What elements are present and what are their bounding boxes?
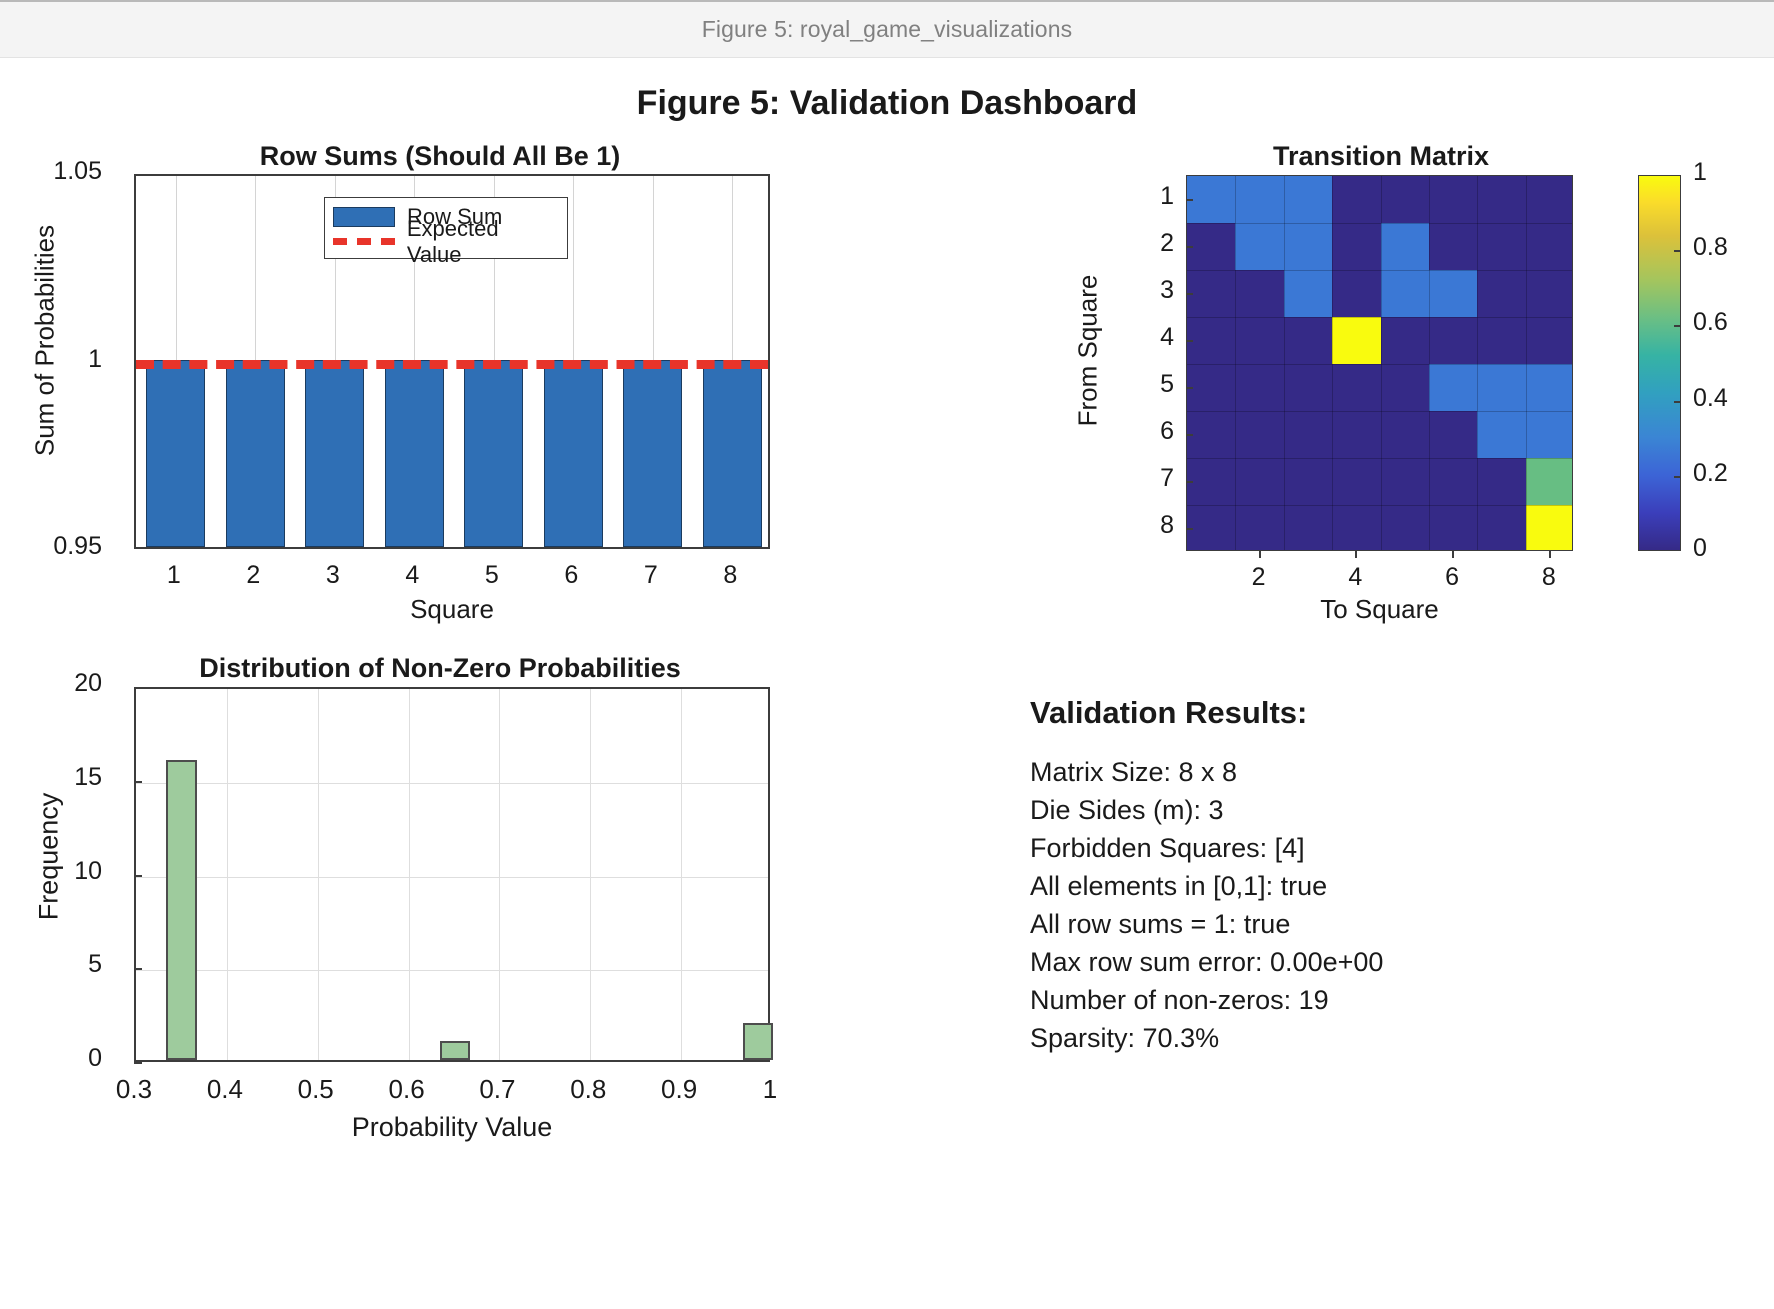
transition-matrix-x-tick-mark xyxy=(1355,551,1357,558)
transition-matrix-y-tick: 6 xyxy=(1094,417,1174,446)
heatmap-cell xyxy=(1526,458,1573,506)
histogram-bar xyxy=(166,760,197,1060)
colorbar-tick: 0 xyxy=(1693,534,1774,563)
histogram-y-tick-mark xyxy=(134,968,142,970)
heatmap-cell xyxy=(1477,364,1526,412)
figure-title: Figure 5: Validation Dashboard xyxy=(0,84,1774,123)
transition-matrix-title: Transition Matrix xyxy=(1186,141,1576,172)
heatmap-cell xyxy=(1526,505,1573,551)
histogram-gridline-vertical xyxy=(227,689,228,1060)
heatmap-gridline-vertical xyxy=(1332,176,1333,550)
transition-matrix-panel: Transition Matrix From Square To Square … xyxy=(960,130,1774,650)
heatmap-gridline-vertical xyxy=(1235,176,1236,550)
heatmap-cell xyxy=(1526,317,1573,365)
heatmap-cell xyxy=(1332,411,1381,459)
legend-label-expected-value: Expected Value xyxy=(407,216,559,268)
heatmap-cell xyxy=(1235,364,1284,412)
row-sums-x-tick: 4 xyxy=(382,561,442,590)
transition-matrix-y-tick-mark xyxy=(1186,199,1193,201)
heatmap-cell xyxy=(1526,364,1573,412)
heatmap-cell xyxy=(1526,176,1573,224)
transition-matrix-x-axis-label: To Square xyxy=(1186,594,1573,625)
heatmap-cell xyxy=(1235,317,1284,365)
histogram-x-axis-label: Probability Value xyxy=(134,1112,770,1143)
transition-matrix-y-tick-mark xyxy=(1186,340,1193,342)
heatmap-cell xyxy=(1381,270,1430,318)
validation-result-line: All elements in [0,1]: true xyxy=(1030,867,1730,905)
heatmap-gridline-horizontal xyxy=(1187,411,1572,412)
histogram-x-tick: 0.6 xyxy=(362,1074,452,1105)
colorbar-tick: 0.2 xyxy=(1693,459,1774,488)
histogram-x-tick: 0.9 xyxy=(634,1074,724,1105)
histogram-gridline-vertical xyxy=(318,689,319,1060)
row-sums-bar xyxy=(385,360,444,548)
transition-matrix-y-tick: 2 xyxy=(1094,229,1174,258)
heatmap-cell xyxy=(1235,176,1284,224)
row-sums-x-axis-label: Square xyxy=(134,594,770,625)
heatmap-cell xyxy=(1235,505,1284,551)
heatmap-cell xyxy=(1381,176,1430,224)
histogram-y-tick: 0 xyxy=(0,1044,102,1073)
row-sums-bar xyxy=(226,360,285,548)
validation-result-line: Die Sides (m): 3 xyxy=(1030,791,1730,829)
histogram-bar xyxy=(743,1023,773,1061)
heatmap-cell xyxy=(1332,223,1381,271)
row-sums-bar xyxy=(464,360,523,548)
transition-matrix-y-tick: 1 xyxy=(1094,182,1174,211)
validation-results-lines: Matrix Size: 8 x 8Die Sides (m): 3Forbid… xyxy=(1030,753,1730,1057)
heatmap-cell xyxy=(1429,364,1478,412)
histogram-y-tick: 5 xyxy=(0,950,102,979)
probability-histogram-panel: Distribution of Non-Zero Probabilities F… xyxy=(0,645,880,1205)
row-sums-x-tick: 6 xyxy=(541,561,601,590)
heatmap-cell xyxy=(1381,223,1430,271)
histogram-plot-area xyxy=(134,687,770,1062)
validation-result-line: Matrix Size: 8 x 8 xyxy=(1030,753,1730,791)
heatmap-cell xyxy=(1235,223,1284,271)
validation-result-line: All row sums = 1: true xyxy=(1030,905,1730,943)
heatmap-cell xyxy=(1477,317,1526,365)
heatmap-cell xyxy=(1332,458,1381,506)
row-sums-x-tick: 5 xyxy=(462,561,522,590)
heatmap-cell xyxy=(1429,270,1478,318)
colorbar-tick: 0.4 xyxy=(1693,384,1774,413)
heatmap-cell xyxy=(1381,364,1430,412)
row-sums-title: Row Sums (Should All Be 1) xyxy=(0,141,880,172)
histogram-y-tick-mark xyxy=(134,687,142,689)
row-sums-y-axis-label: Sum of Probabilities xyxy=(30,186,61,496)
histogram-x-tick: 0.5 xyxy=(271,1074,361,1105)
colorbar-tick: 0.6 xyxy=(1693,308,1774,337)
heatmap-cell xyxy=(1187,505,1236,551)
transition-matrix-y-tick: 3 xyxy=(1094,276,1174,305)
transition-matrix-x-tick: 8 xyxy=(1519,563,1579,592)
histogram-gridline-horizontal xyxy=(136,970,768,971)
heatmap-cell xyxy=(1429,223,1478,271)
transition-matrix-y-tick-mark xyxy=(1186,387,1193,389)
histogram-title: Distribution of Non-Zero Probabilities xyxy=(0,653,880,684)
transition-matrix-x-tick-mark xyxy=(1549,551,1551,558)
heatmap-cell xyxy=(1477,458,1526,506)
validation-results-heading: Validation Results: xyxy=(1030,695,1730,731)
histogram-x-tick: 0.4 xyxy=(180,1074,270,1105)
histogram-x-tick: 0.8 xyxy=(543,1074,633,1105)
heatmap-cell xyxy=(1381,505,1430,551)
histogram-x-tick: 0.7 xyxy=(452,1074,542,1105)
heatmap-cell xyxy=(1526,411,1573,459)
heatmap-cell xyxy=(1284,176,1333,224)
heatmap-gridline-horizontal xyxy=(1187,317,1572,318)
heatmap-cell xyxy=(1429,411,1478,459)
legend-entry-expected-value: Expected Value xyxy=(333,229,559,254)
transition-matrix-y-tick: 7 xyxy=(1094,464,1174,493)
window-title: Figure 5: royal_game_visualizations xyxy=(702,16,1072,43)
heatmap-cell xyxy=(1187,176,1236,224)
row-sums-bar xyxy=(623,360,682,548)
heatmap-gridline-horizontal xyxy=(1187,458,1572,459)
heatmap-cell xyxy=(1477,270,1526,318)
heatmap-cell xyxy=(1187,411,1236,459)
histogram-y-tick-mark xyxy=(134,781,142,783)
transition-matrix-y-tick-mark xyxy=(1186,528,1193,530)
row-sums-bar xyxy=(146,360,205,548)
heatmap-gridline-vertical xyxy=(1526,176,1527,550)
row-sums-legend: Row Sum Expected Value xyxy=(324,197,568,259)
transition-matrix-y-tick-mark xyxy=(1186,293,1193,295)
heatmap-cell xyxy=(1284,270,1333,318)
histogram-y-tick-mark xyxy=(134,875,142,877)
histogram-gridline-vertical xyxy=(590,689,591,1060)
histogram-gridline-horizontal xyxy=(136,877,768,878)
transition-matrix-x-tick: 2 xyxy=(1229,563,1289,592)
histogram-gridline-vertical xyxy=(681,689,682,1060)
colorbar-tick-mark xyxy=(1674,325,1681,327)
colorbar-tick: 1 xyxy=(1693,158,1774,187)
row-sums-y-tick: 1 xyxy=(0,345,102,374)
heatmap-gridline-vertical xyxy=(1477,176,1478,550)
heatmap-cell xyxy=(1429,176,1478,224)
row-sums-y-tick: 0.95 xyxy=(0,532,102,561)
row-sums-bar xyxy=(544,360,603,548)
transition-matrix-y-tick-mark xyxy=(1186,481,1193,483)
heatmap-cell xyxy=(1284,458,1333,506)
transition-matrix-y-tick-mark xyxy=(1186,246,1193,248)
heatmap-cell xyxy=(1526,270,1573,318)
heatmap-cell xyxy=(1235,411,1284,459)
histogram-y-tick-mark xyxy=(134,1062,142,1064)
transition-matrix-y-tick-mark xyxy=(1186,434,1193,436)
heatmap-cell xyxy=(1332,317,1381,365)
legend-swatch-dashed-line-icon xyxy=(333,238,395,245)
heatmap-cell xyxy=(1332,176,1381,224)
heatmap-cell xyxy=(1332,270,1381,318)
row-sums-y-tick: 1.05 xyxy=(0,157,102,186)
expected-value-reference-line xyxy=(136,360,768,369)
transition-matrix-y-tick: 8 xyxy=(1094,511,1174,540)
histogram-gridline-horizontal xyxy=(136,783,768,784)
heatmap-cell xyxy=(1332,505,1381,551)
heatmap-cell xyxy=(1235,458,1284,506)
colorbar-tick-mark xyxy=(1674,401,1681,403)
heatmap-gridline-horizontal xyxy=(1187,364,1572,365)
heatmap-cell xyxy=(1187,223,1236,271)
window-header: Figure 5: royal_game_visualizations xyxy=(0,0,1774,58)
heatmap-cell xyxy=(1526,223,1573,271)
histogram-y-tick: 10 xyxy=(0,857,102,886)
heatmap-cell xyxy=(1187,364,1236,412)
transition-matrix-x-tick-mark xyxy=(1452,551,1454,558)
heatmap-cell xyxy=(1332,364,1381,412)
heatmap-gridline-horizontal xyxy=(1187,223,1572,224)
histogram-y-tick: 15 xyxy=(0,763,102,792)
heatmap-cell xyxy=(1477,411,1526,459)
heatmap-cell xyxy=(1284,505,1333,551)
row-sums-x-tick: 3 xyxy=(303,561,363,590)
heatmap-cell xyxy=(1477,176,1526,224)
legend-swatch-bar-icon xyxy=(333,207,395,227)
histogram-x-tick: 0.3 xyxy=(89,1074,179,1105)
row-sums-bar xyxy=(703,360,762,548)
validation-results-panel: Validation Results: Matrix Size: 8 x 8Di… xyxy=(1030,695,1730,1057)
row-sums-x-tick: 8 xyxy=(700,561,760,590)
heatmap-gridline-vertical xyxy=(1284,176,1285,550)
heatmap-cell xyxy=(1381,317,1430,365)
heatmap-cell xyxy=(1284,223,1333,271)
transition-matrix-x-tick: 6 xyxy=(1422,563,1482,592)
heatmap-cell xyxy=(1381,411,1430,459)
heatmap-gridline-horizontal xyxy=(1187,270,1572,271)
histogram-y-tick: 20 xyxy=(0,669,102,698)
histogram-gridline-vertical xyxy=(409,689,410,1060)
heatmap-cell xyxy=(1187,270,1236,318)
histogram-x-tick: 1 xyxy=(725,1074,815,1105)
heatmap-cell xyxy=(1284,317,1333,365)
colorbar-tick: 0.8 xyxy=(1693,233,1774,262)
transition-matrix-x-tick: 4 xyxy=(1325,563,1385,592)
histogram-bar xyxy=(440,1041,470,1060)
heatmap-cell xyxy=(1429,458,1478,506)
validation-result-line: Forbidden Squares: [4] xyxy=(1030,829,1730,867)
colorbar-tick-mark xyxy=(1674,250,1681,252)
histogram-gridline-vertical xyxy=(499,689,500,1060)
colorbar xyxy=(1638,175,1681,551)
row-sums-x-tick: 2 xyxy=(223,561,283,590)
heatmap-cell xyxy=(1187,317,1236,365)
heatmap-cell xyxy=(1381,458,1430,506)
row-sums-x-tick: 1 xyxy=(144,561,204,590)
heatmap-gridline-vertical xyxy=(1381,176,1382,550)
transition-matrix-x-tick-mark xyxy=(1259,551,1261,558)
transition-matrix-y-tick: 5 xyxy=(1094,370,1174,399)
colorbar-tick-mark xyxy=(1674,476,1681,478)
heatmap-cell xyxy=(1235,270,1284,318)
heatmap-gridline-vertical xyxy=(1429,176,1430,550)
row-sums-panel: Row Sums (Should All Be 1) Sum of Probab… xyxy=(0,130,880,650)
heatmap-cell xyxy=(1477,505,1526,551)
validation-result-line: Sparsity: 70.3% xyxy=(1030,1019,1730,1057)
transition-matrix-plot-area xyxy=(1186,175,1573,551)
heatmap-cell xyxy=(1284,364,1333,412)
heatmap-cell xyxy=(1429,317,1478,365)
heatmap-cell xyxy=(1284,411,1333,459)
heatmap-cell xyxy=(1187,458,1236,506)
heatmap-cell xyxy=(1477,223,1526,271)
row-sums-x-tick: 7 xyxy=(621,561,681,590)
validation-result-line: Max row sum error: 0.00e+00 xyxy=(1030,943,1730,981)
validation-result-line: Number of non-zeros: 19 xyxy=(1030,981,1730,1019)
heatmap-cell xyxy=(1429,505,1478,551)
transition-matrix-y-tick: 4 xyxy=(1094,323,1174,352)
heatmap-gridline-horizontal xyxy=(1187,505,1572,506)
row-sums-bar xyxy=(305,360,364,548)
